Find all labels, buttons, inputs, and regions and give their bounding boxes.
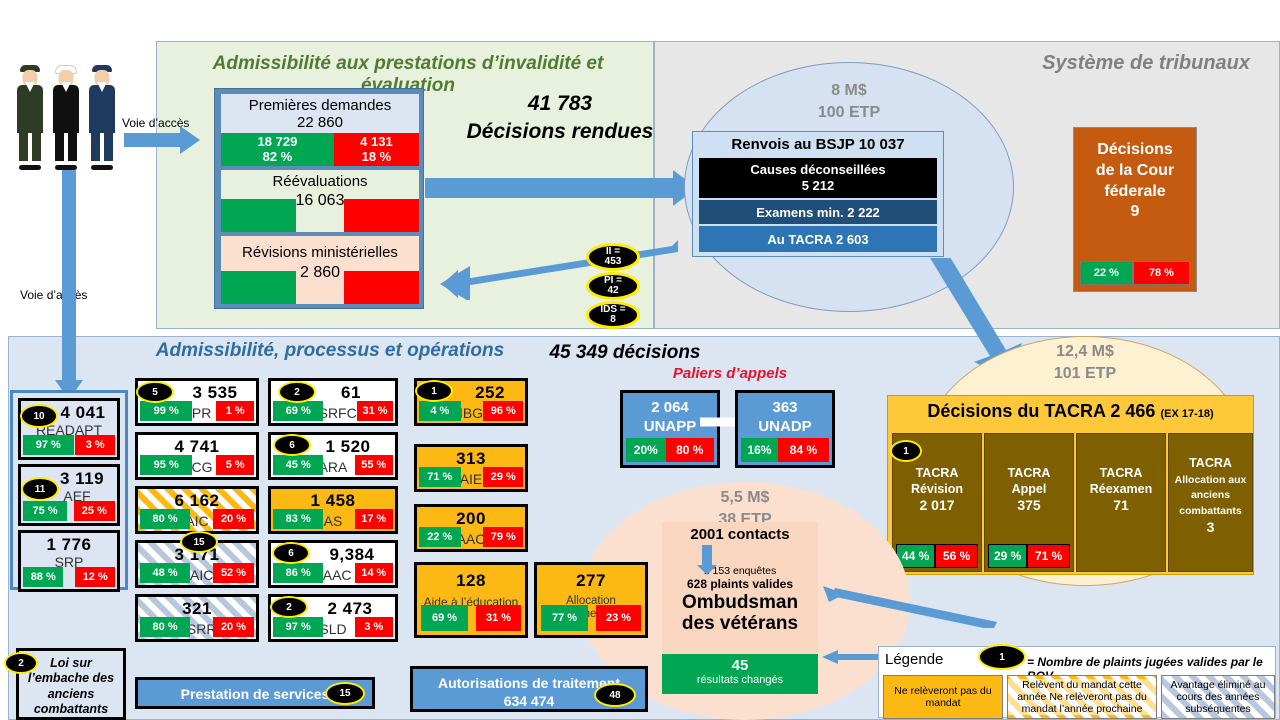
aef-red: 25 % [74, 501, 115, 521]
tacra-col-reexamen: TACRA Réexamen 71 [1076, 433, 1166, 572]
federal-court-line1: Décisions [1074, 140, 1196, 161]
stat-box-srp: 1 776 SRP 88 % 12 % [18, 530, 120, 592]
stack-green-pct-0: 82 % [263, 149, 293, 164]
unadp-red: 84 % [778, 438, 829, 462]
unapp-value: 2 064 [651, 399, 689, 416]
stack-green-2 [221, 271, 296, 304]
asrr-value: 321 [138, 599, 256, 619]
legend-cell-in-mandate-this-year: Relèvent du mandat cette année Ne relève… [1007, 675, 1157, 719]
allocation-vest-value: 277 [537, 571, 645, 591]
srp-value: 1 776 [21, 535, 117, 555]
saic-red: 52 % [213, 563, 254, 583]
as-red: 17 % [355, 509, 393, 529]
legend-cell-benefit-eliminated: Avantage éliminé au cours des années sub… [1161, 675, 1275, 719]
claims-stack: Premières demandes 22 860 18 729 82 % 4 … [214, 88, 424, 309]
allocation-vest-green: 77 % [541, 605, 588, 631]
access-arrow-top-head [180, 126, 200, 154]
loi-line2: l’embache des [19, 671, 123, 686]
srp-green: 88 % [23, 567, 63, 587]
apr-green: 99 % [140, 401, 192, 421]
stack-value-0: 22 860 [297, 114, 343, 131]
stack-green-1 [221, 199, 296, 232]
ombudsman-contacts: 2001 contacts [662, 522, 818, 543]
asrfc-red: 31 % [357, 401, 393, 421]
tacra-cost: 12,4 M$ [920, 341, 1250, 363]
paac-red: 14 % [355, 563, 393, 583]
allocation-vest-red: 23 % [596, 605, 641, 631]
aie-green: 71 % [419, 467, 461, 487]
sld-red: 3 % [355, 617, 393, 637]
badge-ii: II =453 [586, 243, 640, 271]
bsjp-header: Renvois au BSJP 10 037 [693, 132, 943, 153]
unadp-green: 16% [741, 438, 778, 462]
stat-box-aide-education: 128 Aide à l’éducation 69 % 31 % [414, 562, 528, 638]
access-arrow-top-shaft [124, 133, 182, 147]
bsjp-row-causes: Causes déconseillées 5 212 [699, 158, 937, 198]
tacra-etp: 101 ETP [920, 363, 1250, 385]
bsjp-box: Renvois au BSJP 10 037 Causes déconseill… [692, 131, 944, 257]
aie-red: 29 % [483, 467, 523, 487]
ombudsman-enquetes: 1 153 enquêtes [662, 565, 818, 577]
badge-prestation: 15 [325, 682, 365, 705]
stack-red-0: 4 131 18 % [334, 133, 419, 166]
legend-cell-not-in-mandate: Ne relèveront pas du mandat [883, 675, 1003, 719]
stack-red-pct-0: 18 % [362, 149, 392, 164]
unapp-green: 20% [626, 438, 666, 462]
unapp-acr: UNAPP [644, 418, 697, 435]
asrr-green: 80 % [140, 617, 190, 637]
asrr-red: 20 % [213, 617, 254, 637]
badge-autorisations: 48 [594, 683, 636, 707]
stat-box-allocation-vestimentaire: 277 Allocation vestimentaire 77 % 23 % [534, 562, 648, 638]
access-arrow-bottom-shaft [62, 170, 76, 382]
ombudsman-box: 2001 contacts 1 153 enquêtes 628 plaints… [662, 522, 818, 694]
arrow-to-bsjp-shaft [425, 178, 675, 198]
stat-box-aie: 313 AIE 71 % 29 % [414, 444, 528, 492]
asrfc-green: 69 % [273, 401, 323, 421]
appeals-levels-title: Paliers d’appels [630, 365, 830, 382]
badge-ids: IDS =8 [586, 301, 640, 329]
arrow-back-to-revisions [440, 240, 680, 300]
aic-green: 80 % [140, 509, 190, 529]
bsjp-row-tacra: Au TACRA 2 603 [699, 226, 937, 252]
tacra-col-appel: TACRA Appel 375 29 % 71 % [984, 433, 1074, 572]
tacra-col-allocation: TACRA Allocation aux anciens combattants… [1168, 433, 1253, 572]
bsjp-etp: 100 ETP [684, 102, 1014, 124]
aac-green: 22 % [419, 527, 461, 547]
bsjp-cost: 8 M$ [684, 80, 1014, 102]
appeal-box-unadp: 363 UNADP 16% 84 % [735, 390, 835, 468]
aide-education-red: 31 % [476, 605, 521, 631]
badge-paac: 6 [272, 542, 310, 564]
tacra-appel-green: 29 % [988, 544, 1027, 568]
sld-green: 97 % [273, 617, 323, 637]
tacra-appel-red: 71 % [1027, 544, 1070, 568]
paac-green: 86 % [273, 563, 323, 583]
tacra-header-note: (EX 17-18) [1160, 408, 1213, 420]
stack-red-count-0: 4 131 [360, 134, 393, 149]
legend-panel: Légende = Nombre de plaints jugées valid… [878, 646, 1276, 718]
dcg-red: 5 % [216, 455, 254, 475]
readapt-red: 3 % [75, 435, 115, 455]
legend-badge: 1 [978, 644, 1026, 670]
dcg-value: 4 741 [138, 437, 256, 457]
unadp-value: 363 [772, 399, 797, 416]
aide-education-value: 128 [417, 571, 525, 591]
stack-item-premieres-demandes: Premières demandes 22 860 18 729 82 % 4 … [221, 94, 419, 166]
ombudsman-inner-arrowhead [697, 565, 717, 575]
tacra-box: Décisions du TACRA 2 466 (EX 17-18) TACR… [887, 395, 1254, 575]
apr-red: 1 % [216, 401, 254, 421]
total-decisions-label: Décisions rendues [465, 118, 655, 146]
stack-green-0: 18 729 82 % [221, 133, 334, 166]
ara-red: 55 % [355, 455, 393, 475]
aef-green: 75 % [23, 501, 67, 521]
stack-label-1: Réévaluations [221, 170, 419, 190]
bsjp-cost-etp: 8 M$ 100 ETP [684, 80, 1014, 123]
stat-box-aac: 200 AAC 22 % 79 % [414, 504, 528, 552]
unadp-acr: UNADP [758, 418, 811, 435]
tacra-badge: 1 [890, 440, 922, 462]
stack-item-revisions-ministerielles: Révisions ministérielles 2 860 [221, 236, 419, 304]
federal-court-red: 78 % [1133, 261, 1190, 285]
dcg-green: 95 % [140, 455, 192, 475]
ombudsman-result-label: résultats changés [662, 674, 818, 686]
badge-readapt: 10 [20, 404, 58, 428]
ombudsman-title1: Ombudsman [662, 593, 818, 614]
aic-value: 6 162 [138, 491, 256, 511]
ombudsman-results: 45 résultats changés [662, 654, 818, 694]
loi-line4: combattants [19, 702, 123, 717]
badge-aic: 15 [180, 531, 218, 553]
panel-blue-title: Admissibilité, processus et opérations [110, 340, 550, 362]
tacra-header: Décisions du TACRA 2 466 [927, 401, 1155, 421]
stack-red-1 [344, 199, 419, 232]
badge-ara: 6 [273, 434, 311, 456]
autorisations-label: Autorisations de traitement [438, 675, 620, 691]
arrow-legend-to-ombudsman [815, 586, 997, 628]
badge-pi: PI =42 [586, 272, 640, 300]
tacra-cost-etp: 12,4 M$ 101 ETP [920, 341, 1250, 384]
bsjp-row-examens: Examens min. 2 222 [699, 200, 937, 224]
ibg-red: 96 % [483, 401, 523, 421]
aac-value: 200 [417, 509, 525, 529]
access-path-label-bottom: Voie d’accès [20, 288, 87, 302]
saic-green: 48 % [140, 563, 190, 583]
badge-asrfc: 2 [278, 381, 316, 403]
as-value: 1 458 [271, 491, 395, 511]
ara-green: 45 % [273, 455, 323, 475]
stat-box-aic: 6 162 AIC 80 % 20 % [135, 486, 259, 534]
ombudsman-plaints: 628 plaints valides [662, 577, 818, 591]
total-decisions-45349: 45 349 décisions [520, 342, 730, 364]
badge-aef: 11 [21, 477, 59, 501]
federal-court-line2: de la Cour [1074, 161, 1196, 182]
unapp-red: 80 % [666, 438, 714, 462]
ombudsman-cost: 5,5 M$ [580, 487, 910, 509]
stack-green-count-0: 18 729 [258, 134, 298, 149]
ombudsman-title2: des vétérans [662, 614, 818, 635]
aide-education-green: 69 % [421, 605, 468, 631]
federal-court-box: Décisions de la Cour féderale 9 22 % 78 … [1073, 127, 1197, 292]
aac-red: 79 % [483, 527, 523, 547]
stack-label-2: Révisions ministérielles [221, 236, 419, 261]
total-decisions-rendered: 41 783 Décisions rendues [465, 90, 655, 147]
legend-title: Légende [885, 651, 943, 668]
readapt-green: 97 % [23, 435, 74, 455]
stack-item-reevaluations: Réévaluations 16 063 [221, 170, 419, 232]
badge-loi: 2 [4, 652, 38, 674]
stat-box-asrr: 321 ASRR 80 % 20 % [135, 594, 259, 642]
stack-label-0: Premières demandes [249, 97, 392, 114]
badge-ibg: 1 [415, 380, 453, 402]
badge-sld: 2 [270, 596, 308, 618]
stat-box-dcg: 4 741 DCG 95 % 5 % [135, 432, 259, 480]
as-green: 83 % [273, 509, 323, 529]
total-decisions-number: 41 783 [465, 90, 655, 118]
federal-court-green: 22 % [1080, 261, 1133, 285]
badge-apr: 5 [136, 381, 174, 403]
arrow-legend-left [822, 650, 882, 664]
aie-value: 313 [417, 449, 525, 469]
stat-box-as: 1 458 AS 83 % 17 % [268, 486, 398, 534]
federal-court-line3: féderale [1074, 182, 1196, 203]
federal-court-value: 9 [1074, 202, 1196, 223]
aic-red: 20 % [213, 509, 254, 529]
ombudsman-inner-arrow [702, 545, 712, 567]
autorisations-value: 634 474 [504, 693, 555, 709]
srp-red: 12 % [75, 567, 115, 587]
ibg-green: 4 % [419, 401, 461, 421]
tacra-revision-red: 56 % [935, 544, 978, 568]
stack-red-2 [344, 271, 419, 304]
ombudsman-result-num: 45 [662, 654, 818, 674]
veterans-illustration [12, 60, 122, 170]
loi-line3: anciens [19, 687, 123, 702]
